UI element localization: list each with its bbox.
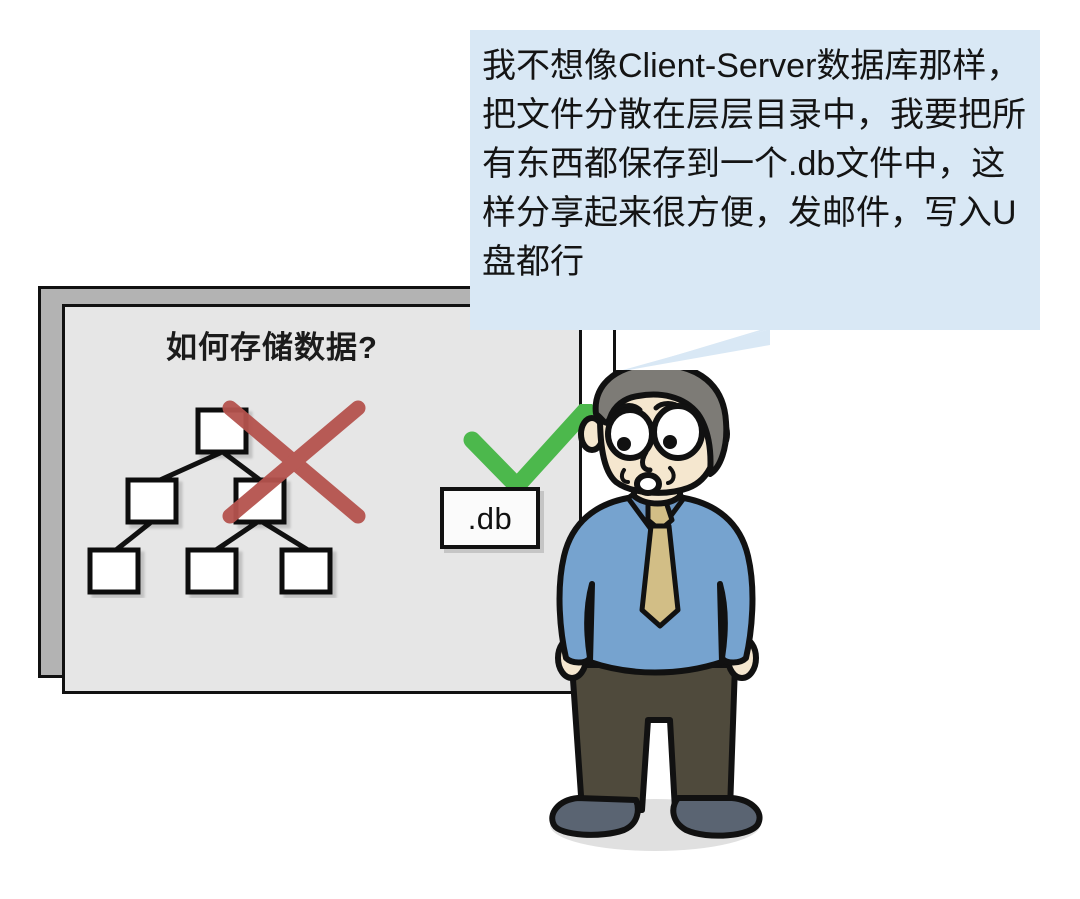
tree-edge-root-mid1 — [160, 453, 220, 480]
necktie — [642, 502, 678, 626]
illustration-scene: 如何存储数据? — [0, 0, 1080, 899]
tree-edge-mid1-leaf1 — [116, 523, 150, 550]
presenter-character — [520, 370, 820, 870]
tree-node-leaf-1 — [90, 550, 138, 592]
speech-bubble-text: 我不想像Client-Server数据库那样，把文件分散在层层目录中，我要把所有… — [482, 42, 1034, 287]
pupil-left — [617, 437, 631, 451]
page-title: 如何存储数据? — [62, 322, 482, 367]
mouth — [637, 475, 659, 493]
tree-node-mid-1 — [128, 480, 176, 522]
pants — [572, 665, 735, 810]
tree-node-leaf-3 — [282, 550, 330, 592]
shoe-right — [673, 798, 759, 836]
db-file-label: .db — [468, 503, 513, 534]
tree-node-leaf-2 — [188, 550, 236, 592]
speech-bubble: 我不想像Client-Server数据库那样，把文件分散在层层目录中，我要把所有… — [470, 30, 1040, 330]
shoe-left — [552, 798, 638, 835]
red-x-icon — [218, 396, 370, 528]
pupil-right — [663, 435, 677, 449]
speech-bubble-tail — [610, 329, 770, 375]
eye-right — [654, 406, 702, 458]
